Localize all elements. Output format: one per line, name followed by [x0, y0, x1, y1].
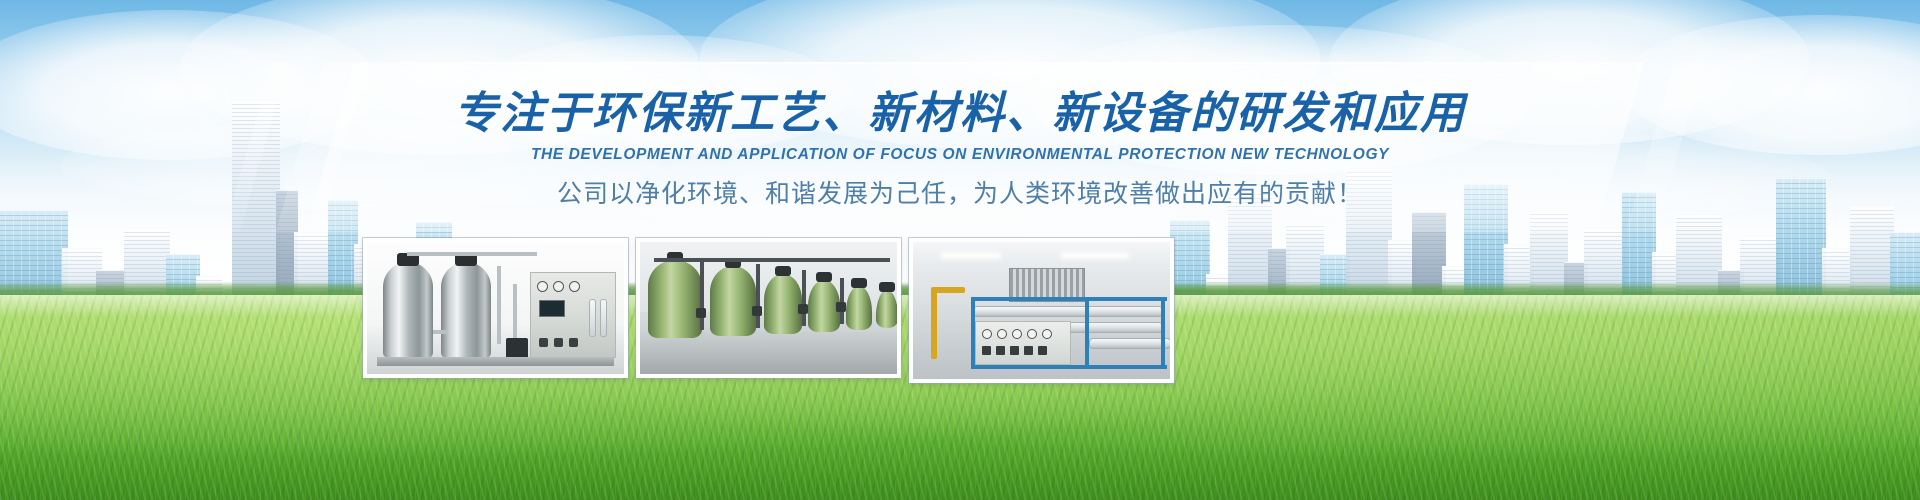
reverse-osmosis-membrane-skid-image	[913, 242, 1170, 379]
hero-banner: 专注于环保新工艺、新材料、新设备的研发和应用 THE DEVELOPMENT A…	[0, 0, 1920, 500]
product-photo-2[interactable]	[636, 238, 901, 378]
banner-headline: 专注于环保新工艺、新材料、新设备的研发和应用	[0, 88, 1920, 140]
green-frp-filter-vessels-row-image	[640, 242, 897, 374]
product-photo-3[interactable]	[909, 238, 1174, 383]
banner-tagline: 公司以净化环境、和谐发展为己任，为人类环境改善做出应有的贡献！	[0, 178, 1920, 211]
banner-copy: 专注于环保新工艺、新材料、新设备的研发和应用 THE DEVELOPMENT A…	[0, 88, 1920, 210]
product-photo-strip	[363, 238, 1174, 383]
banner-subheadline: THE DEVELOPMENT AND APPLICATION OF FOCUS…	[0, 146, 1920, 164]
stainless-steel-water-treatment-tanks-image	[367, 242, 624, 374]
product-photo-1[interactable]	[363, 238, 628, 378]
